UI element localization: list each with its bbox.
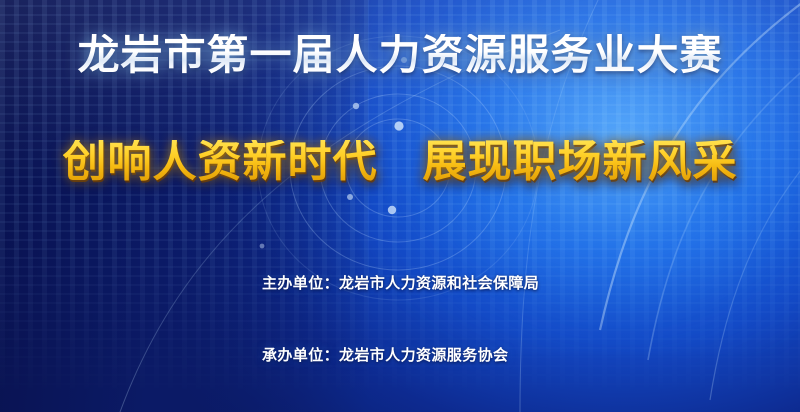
headline-container: 龙岩市第一届人力资源服务业大赛 <box>0 34 800 76</box>
detail-organizer: 主办单位：龙岩市人力资源和社会保障局 <box>262 272 539 296</box>
subtitle-container: 创响人资新时代 展现职场新风采 <box>0 140 800 184</box>
event-details: 主办单位：龙岩市人力资源和社会保障局 承办单位：龙岩市人力资源服务协会 时 间：… <box>262 224 539 412</box>
event-poster: 龙岩市第一届人力资源服务业大赛 创响人资新时代 展现职场新风采 <box>0 0 800 412</box>
detail-co-organizer: 承办单位：龙岩市人力资源服务协会 <box>262 344 539 368</box>
poster-subtitle: 创响人资新时代 展现职场新风采 <box>63 140 738 184</box>
page-title: 龙岩市第一届人力资源服务业大赛 <box>77 34 722 76</box>
